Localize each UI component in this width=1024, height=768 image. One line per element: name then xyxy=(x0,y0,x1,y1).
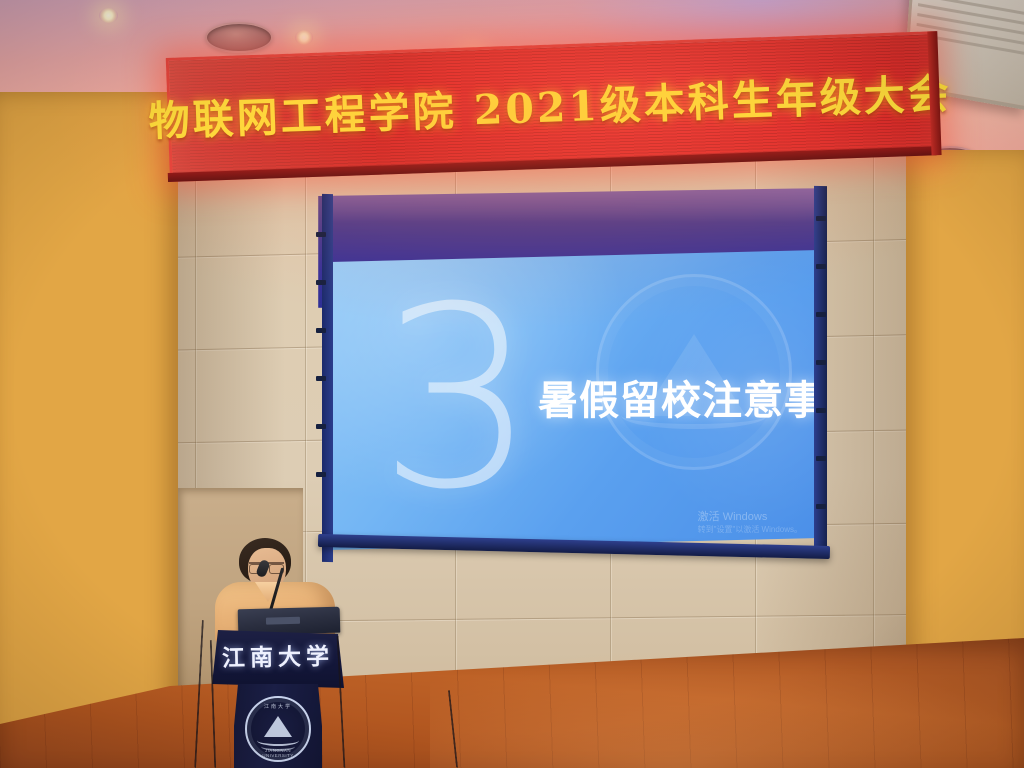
led-banner: 物联网工程学院 2021级本科生年级大会 xyxy=(166,31,935,188)
watermark-line-2: 转到"设置"以激活 Windows。 xyxy=(698,525,802,536)
lecture-hall-photo: 物联网工程学院 2021级本科生年级大会 3 暑假留校注意事项 激活 Windo… xyxy=(0,0,1024,768)
screen-tension-clip xyxy=(816,264,826,269)
slide-section-number: 3 xyxy=(378,274,537,524)
ceiling-downlight xyxy=(99,8,118,23)
screen-tension-clip xyxy=(816,216,826,221)
screen-tension-clip xyxy=(316,472,326,477)
screen-frame-right xyxy=(814,186,827,558)
screen-tension-clip xyxy=(316,328,326,333)
podium-calligraphy: 江南大学 xyxy=(212,637,345,673)
screen-tension-clip xyxy=(316,280,326,285)
screen-tension-clip xyxy=(816,504,826,509)
screen-tension-clip xyxy=(316,232,326,237)
screen-tension-clip xyxy=(316,376,326,381)
watermark-line-1: 激活 Windows xyxy=(698,510,802,525)
wall-slat-panel-left xyxy=(0,92,178,768)
slide-title: 暑假留校注意事项 xyxy=(538,368,820,426)
screen-tension-clip xyxy=(816,312,826,317)
projected-slide: 3 暑假留校注意事项 激活 Windows 转到"设置"以激活 Windows。 xyxy=(330,250,820,550)
screen-tension-clip xyxy=(816,456,826,461)
projection-screen: 3 暑假留校注意事项 激活 Windows 转到"设置"以激活 Windows。 xyxy=(310,188,826,580)
screen-tension-clip xyxy=(816,408,826,413)
ceiling-downlight xyxy=(295,30,313,45)
lectern-podium: 江南大学 江南大学 JIANGNAN UNIVERSITY xyxy=(212,630,344,768)
windows-activation-watermark: 激活 Windows 转到"设置"以激活 Windows。 xyxy=(698,510,802,536)
emblem-bottom-text: JIANGNAN UNIVERSITY xyxy=(251,748,305,758)
screen-top-edge xyxy=(326,188,834,222)
screen-tension-clip xyxy=(816,360,826,365)
university-emblem: 江南大学 JIANGNAN UNIVERSITY xyxy=(245,696,311,762)
screen-tension-clip xyxy=(316,424,326,429)
ceiling-speaker xyxy=(205,22,273,53)
